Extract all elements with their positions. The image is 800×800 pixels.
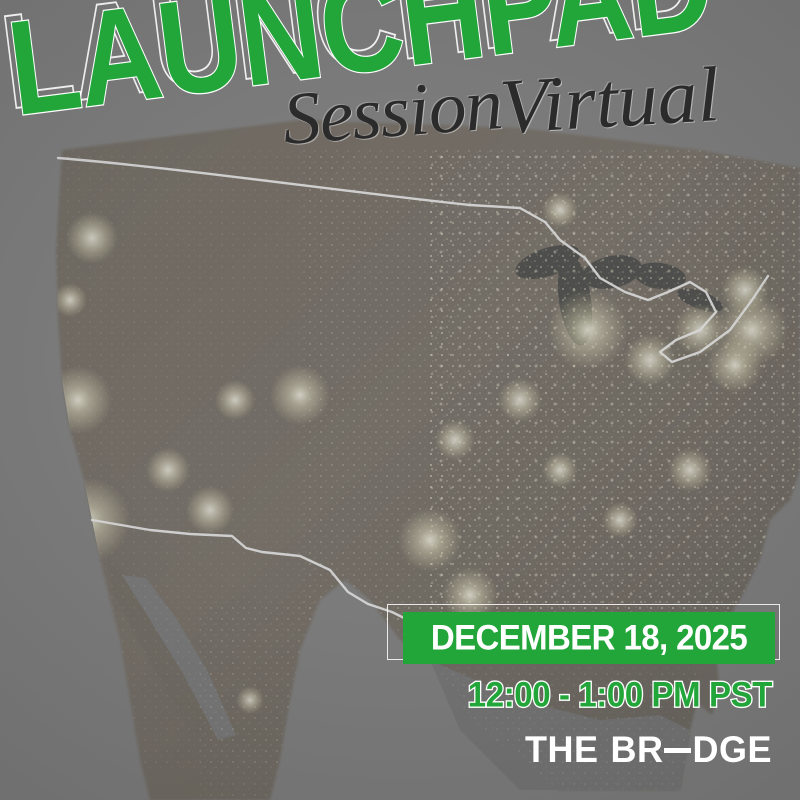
poster-canvas: LAUNCHPAD LAUNCHPAD Session Virtual DECE… xyxy=(0,0,800,800)
logo-prefix: THE xyxy=(525,729,599,772)
date-text: DECEMBER 18, 2025 xyxy=(431,618,747,658)
logo-brand-right: DGE xyxy=(692,729,772,772)
logo-brand-left: BR xyxy=(610,729,663,772)
brand-logo: THE BR DGE xyxy=(0,729,772,771)
bridge-dash-icon xyxy=(664,748,691,753)
time-text: 12:00 - 1:00 PM PST xyxy=(0,675,772,715)
date-band: DECEMBER 18, 2025 xyxy=(403,612,775,664)
